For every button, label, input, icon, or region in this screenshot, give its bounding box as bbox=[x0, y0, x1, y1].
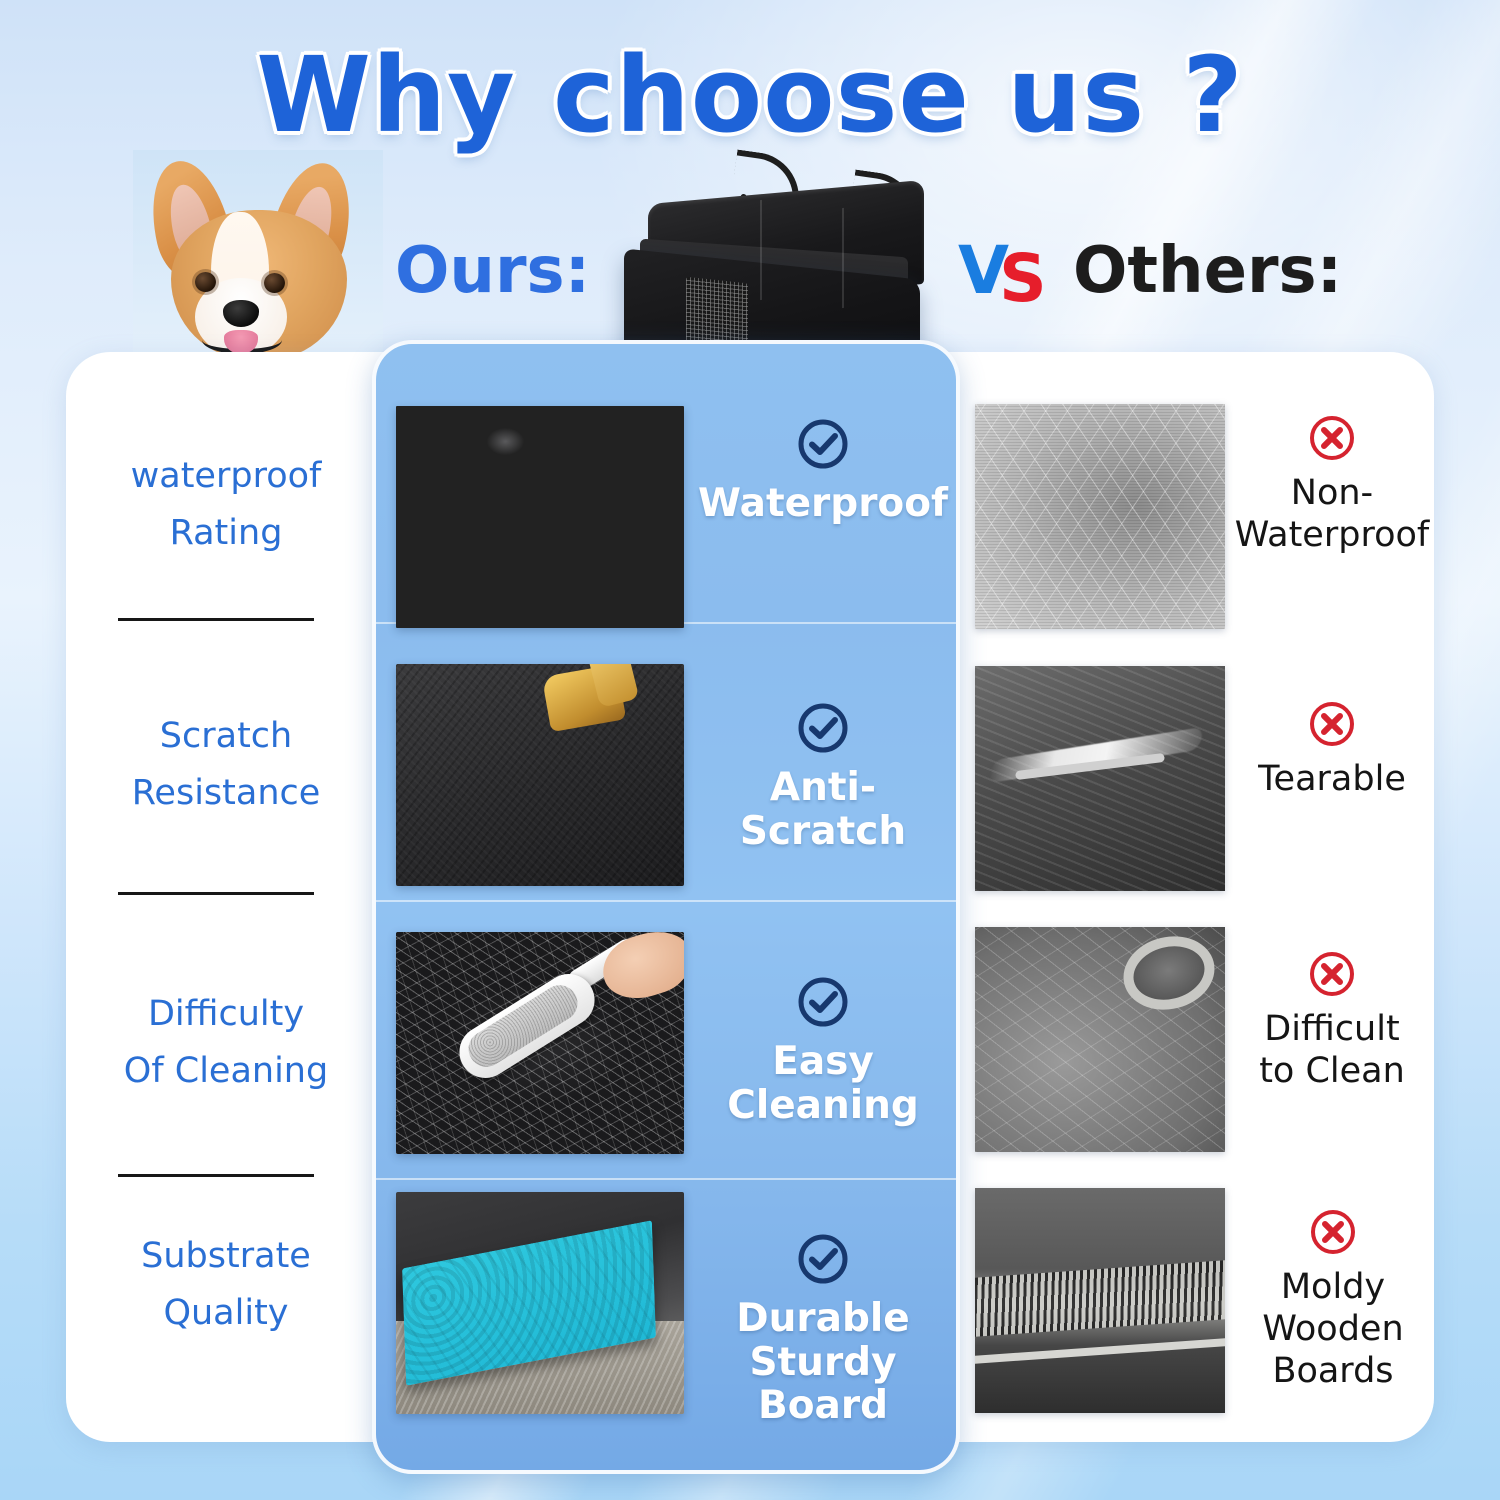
ours-photo-easy-cleaning bbox=[396, 932, 684, 1154]
ours-verdict-sturdy-board: DurableSturdy Board bbox=[690, 1233, 956, 1428]
criteria-divider bbox=[118, 892, 314, 895]
circle-check-icon bbox=[797, 702, 849, 754]
others-photo-difficult-to-clean bbox=[975, 927, 1225, 1152]
criteria-divider bbox=[118, 618, 314, 621]
others-verdict-text: Tearable bbox=[1258, 759, 1406, 799]
others-photo-non-waterproof bbox=[975, 404, 1225, 629]
page-title: Why choose us ? bbox=[0, 34, 1500, 156]
others-verdict-text: Non-Waterproof bbox=[1235, 473, 1429, 555]
ours-verdict-text: EasyCleaning bbox=[727, 1039, 919, 1128]
ours-verdict-easy-cleaning: EasyCleaning bbox=[690, 976, 956, 1127]
ours-verdict-anti-scratch: Anti-Scratch bbox=[690, 702, 956, 853]
others-photo-moldy-wooden-boards bbox=[975, 1188, 1225, 1413]
others-verdict-moldy-wooden-boards: Moldy WoodenBoards bbox=[1222, 1208, 1444, 1392]
ours-photo-waterproof bbox=[396, 406, 684, 628]
others-verdict-text: Moldy WoodenBoards bbox=[1262, 1267, 1403, 1391]
criteria-label: ScratchResistance bbox=[96, 708, 356, 821]
comparison-row: waterproofRating Waterproof Non-Waterpro… bbox=[0, 396, 1500, 674]
vs-badge: VS bbox=[958, 232, 1049, 309]
others-verdict-tearable: Tearable bbox=[1232, 700, 1432, 800]
ours-verdict-text: DurableSturdy Board bbox=[736, 1296, 909, 1428]
circle-check-icon bbox=[797, 418, 849, 470]
comparison-row: ScratchResistance Anti-Scratch Tearable bbox=[0, 674, 1500, 952]
ours-photo-anti-scratch bbox=[396, 664, 684, 886]
comparison-header-row: Ours: VS Others: bbox=[0, 222, 1500, 332]
criteria-divider bbox=[118, 1174, 314, 1177]
circle-check-icon bbox=[797, 976, 849, 1028]
criteria-label: waterproofRating bbox=[96, 448, 356, 561]
others-verdict-text: Difficultto Clean bbox=[1259, 1009, 1405, 1091]
ours-verdict-text: Anti-Scratch bbox=[740, 765, 906, 854]
criteria-label: DifficultyOf Cleaning bbox=[96, 986, 356, 1099]
circle-x-icon bbox=[1309, 1208, 1357, 1256]
others-photo-tearable bbox=[975, 666, 1225, 891]
vs-letter-s: S bbox=[999, 240, 1043, 317]
infographic-page: Why choose us ? Ours: VS Others: bbox=[0, 0, 1500, 1500]
circle-x-icon bbox=[1308, 700, 1356, 748]
circle-x-icon bbox=[1308, 414, 1356, 462]
others-verdict-non-waterproof: Non-Waterproof bbox=[1232, 414, 1432, 556]
ours-photo-sturdy-board bbox=[396, 1192, 684, 1414]
ours-verdict-text: Waterproof bbox=[698, 481, 948, 526]
circle-check-icon bbox=[797, 1233, 849, 1285]
comparison-row: SubstrateQuality DurableSturdy Board Mol… bbox=[0, 1230, 1500, 1500]
others-verdict-difficult-to-clean: Difficultto Clean bbox=[1232, 950, 1432, 1092]
ours-column-heading: Ours: bbox=[395, 234, 590, 308]
others-column-heading: Others: bbox=[1073, 234, 1342, 308]
circle-x-icon bbox=[1308, 950, 1356, 998]
comparison-row: DifficultyOf Cleaning EasyCleaning bbox=[0, 952, 1500, 1230]
ours-verdict-waterproof: Waterproof bbox=[690, 418, 956, 526]
criteria-label: SubstrateQuality bbox=[96, 1228, 356, 1341]
